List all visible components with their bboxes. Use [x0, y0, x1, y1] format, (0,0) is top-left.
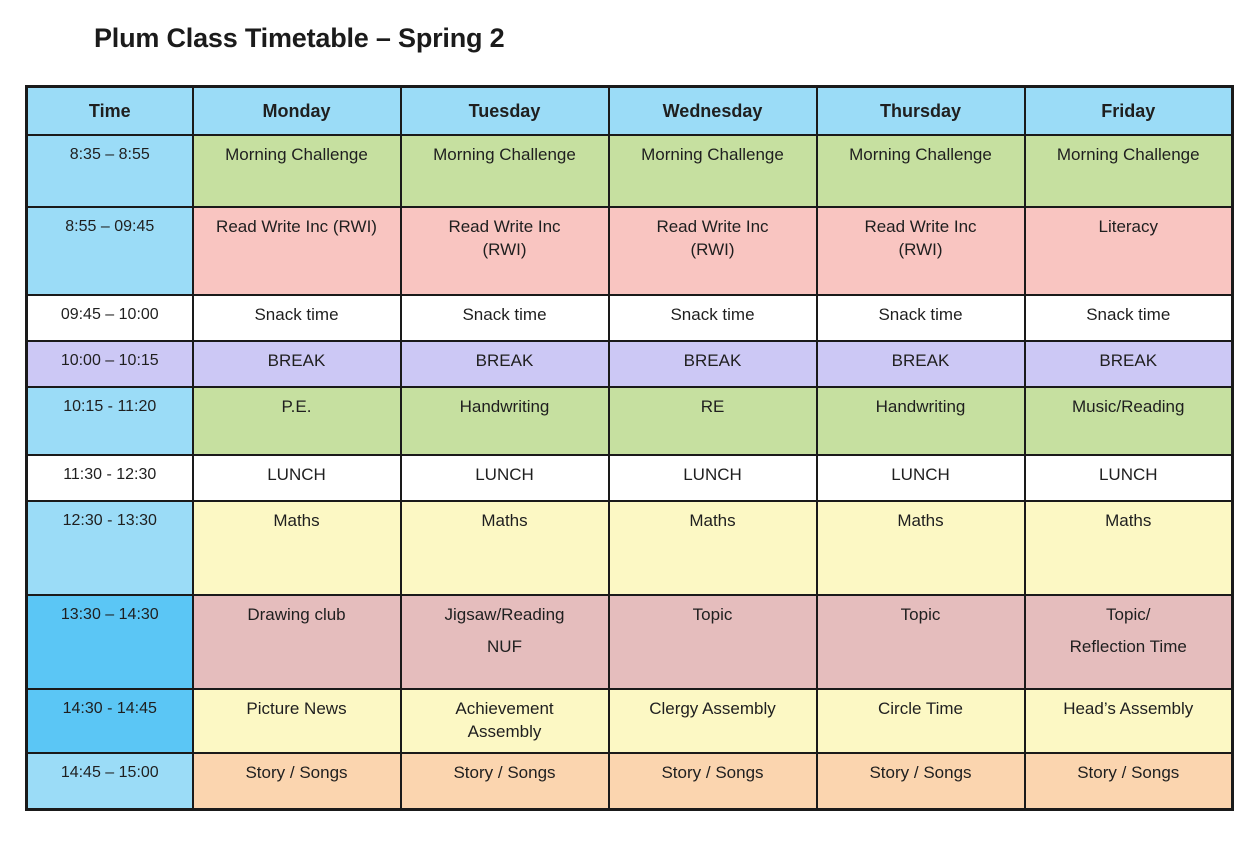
- lesson-cell: Clergy Assembly: [609, 689, 817, 753]
- lesson-line: Topic/: [1033, 605, 1225, 625]
- lesson-cell: Maths: [609, 501, 817, 595]
- lesson-cell: Head’s Assembly: [1025, 689, 1233, 753]
- time-label: 11:30 - 12:30: [28, 456, 192, 488]
- column-header-time: Time: [27, 87, 193, 136]
- lesson-cell: Morning Challenge: [1025, 135, 1233, 207]
- time-label: 14:45 – 15:00: [28, 754, 192, 786]
- time-cell: 10:00 – 10:15: [27, 341, 193, 387]
- column-header-friday: Friday: [1025, 87, 1233, 136]
- lesson-text: BREAK: [610, 342, 816, 375]
- lesson-cell: Maths: [817, 501, 1025, 595]
- lesson-cell: Maths: [1025, 501, 1233, 595]
- time-cell: 10:15 - 11:20: [27, 387, 193, 455]
- lesson-line: LUNCH: [825, 465, 1017, 485]
- lesson-line: Story / Songs: [1033, 763, 1225, 783]
- time-cell: 14:30 - 14:45: [27, 689, 193, 753]
- lesson-line: (RWI): [409, 240, 601, 260]
- lesson-line: Jigsaw/Reading: [409, 605, 601, 625]
- lesson-text: Read Write Inc(RWI): [610, 208, 816, 263]
- lesson-cell: Literacy: [1025, 207, 1233, 295]
- lesson-text: BREAK: [194, 342, 400, 375]
- lesson-line: Story / Songs: [201, 763, 393, 783]
- lesson-text: RE: [610, 388, 816, 421]
- lesson-line: Maths: [201, 511, 393, 531]
- lesson-text: Topic/Reflection Time: [1026, 596, 1232, 660]
- time-label: 8:55 – 09:45: [28, 208, 192, 240]
- lesson-text: Read Write Inc (RWI): [194, 208, 400, 241]
- lesson-cell: Maths: [193, 501, 401, 595]
- lesson-text: BREAK: [402, 342, 608, 375]
- lesson-text: LUNCH: [610, 456, 816, 489]
- lesson-text: Maths: [194, 502, 400, 535]
- lesson-cell: BREAK: [401, 341, 609, 387]
- lesson-text: LUNCH: [818, 456, 1024, 489]
- lesson-text: Circle Time: [818, 690, 1024, 723]
- lesson-line: BREAK: [409, 351, 601, 371]
- lesson-line: Read Write Inc: [825, 217, 1017, 237]
- lesson-text: Story / Songs: [818, 754, 1024, 787]
- time-label: 13:30 – 14:30: [28, 596, 192, 628]
- time-label: 12:30 - 13:30: [28, 502, 192, 534]
- lesson-cell: Story / Songs: [401, 753, 609, 810]
- time-label: 8:35 – 8:55: [28, 136, 192, 168]
- header-row: Time Monday Tuesday Wednesday Thursday F…: [27, 87, 1233, 136]
- lesson-line: LUNCH: [201, 465, 393, 485]
- lesson-line: BREAK: [201, 351, 393, 371]
- time-cell: 8:55 – 09:45: [27, 207, 193, 295]
- lesson-cell: Snack time: [193, 295, 401, 341]
- lesson-cell: Morning Challenge: [609, 135, 817, 207]
- lesson-line: Read Write Inc: [409, 217, 601, 237]
- lesson-line: Read Write Inc: [617, 217, 809, 237]
- lesson-cell: LUNCH: [193, 455, 401, 501]
- lesson-text: Head’s Assembly: [1026, 690, 1232, 723]
- lesson-line: Circle Time: [825, 699, 1017, 719]
- lesson-text: Snack time: [818, 296, 1024, 329]
- lesson-text: AchievementAssembly: [402, 690, 608, 745]
- lesson-cell: Handwriting: [817, 387, 1025, 455]
- lesson-line: LUNCH: [409, 465, 601, 485]
- lesson-cell: P.E.: [193, 387, 401, 455]
- lesson-cell: Read Write Inc(RWI): [401, 207, 609, 295]
- lesson-line: Morning Challenge: [201, 145, 393, 165]
- lesson-line: BREAK: [1033, 351, 1225, 371]
- lesson-line: BREAK: [617, 351, 809, 371]
- lesson-text: Story / Songs: [610, 754, 816, 787]
- lesson-text: Read Write Inc(RWI): [402, 208, 608, 263]
- time-cell: 14:45 – 15:00: [27, 753, 193, 810]
- lesson-line: Morning Challenge: [825, 145, 1017, 165]
- lesson-text: Maths: [1026, 502, 1232, 535]
- lesson-line: Snack time: [1033, 305, 1225, 325]
- lesson-cell: Snack time: [1025, 295, 1233, 341]
- time-label: 14:30 - 14:45: [28, 690, 192, 722]
- lesson-cell: Snack time: [609, 295, 817, 341]
- lesson-text: Jigsaw/ReadingNUF: [402, 596, 608, 660]
- lesson-line: (RWI): [825, 240, 1017, 260]
- lesson-text: Picture News: [194, 690, 400, 723]
- lesson-line: Assembly: [409, 722, 601, 742]
- lesson-line: LUNCH: [1033, 465, 1225, 485]
- lesson-cell: AchievementAssembly: [401, 689, 609, 753]
- timetable-row: 10:15 - 11:20P.E.HandwritingREHandwritin…: [27, 387, 1233, 455]
- lesson-line: Topic: [825, 605, 1017, 625]
- timetable-page: Plum Class Timetable – Spring 2 Time Mon…: [0, 0, 1256, 867]
- lesson-line: P.E.: [201, 397, 393, 417]
- lesson-line: RE: [617, 397, 809, 417]
- lesson-cell: Story / Songs: [609, 753, 817, 810]
- lesson-line: Story / Songs: [409, 763, 601, 783]
- lesson-text: Story / Songs: [1026, 754, 1232, 787]
- timetable-body: 8:35 – 8:55Morning ChallengeMorning Chal…: [27, 135, 1233, 810]
- column-header-monday: Monday: [193, 87, 401, 136]
- lesson-line: Reflection Time: [1033, 637, 1225, 657]
- lesson-cell: LUNCH: [609, 455, 817, 501]
- lesson-line: Maths: [409, 511, 601, 531]
- lesson-text: Music/Reading: [1026, 388, 1232, 421]
- lesson-text: Snack time: [402, 296, 608, 329]
- lesson-text: Morning Challenge: [610, 136, 816, 169]
- lesson-line: Story / Songs: [825, 763, 1017, 783]
- lesson-text: Read Write Inc(RWI): [818, 208, 1024, 263]
- timetable-row: 11:30 - 12:30LUNCHLUNCHLUNCHLUNCHLUNCH: [27, 455, 1233, 501]
- lesson-cell: LUNCH: [817, 455, 1025, 501]
- lesson-cell: BREAK: [817, 341, 1025, 387]
- timetable-row: 8:55 – 09:45Read Write Inc (RWI)Read Wri…: [27, 207, 1233, 295]
- lesson-text: Drawing club: [194, 596, 400, 629]
- lesson-cell: Handwriting: [401, 387, 609, 455]
- lesson-line: Clergy Assembly: [617, 699, 809, 719]
- lesson-cell: Picture News: [193, 689, 401, 753]
- lesson-line: Story / Songs: [617, 763, 809, 783]
- lesson-cell: Story / Songs: [193, 753, 401, 810]
- lesson-line: LUNCH: [617, 465, 809, 485]
- lesson-cell: Snack time: [817, 295, 1025, 341]
- lesson-line: Drawing club: [201, 605, 393, 625]
- lesson-text: Morning Challenge: [818, 136, 1024, 169]
- lesson-line: Head’s Assembly: [1033, 699, 1225, 719]
- lesson-text: Story / Songs: [402, 754, 608, 787]
- lesson-line: Achievement: [409, 699, 601, 719]
- lesson-cell: BREAK: [193, 341, 401, 387]
- lesson-text: Clergy Assembly: [610, 690, 816, 723]
- lesson-text: Snack time: [194, 296, 400, 329]
- timetable-head: Time Monday Tuesday Wednesday Thursday F…: [27, 87, 1233, 136]
- lesson-cell: Circle Time: [817, 689, 1025, 753]
- lesson-cell: Read Write Inc (RWI): [193, 207, 401, 295]
- lesson-cell: Morning Challenge: [401, 135, 609, 207]
- lesson-cell: Morning Challenge: [193, 135, 401, 207]
- lesson-cell: Read Write Inc(RWI): [609, 207, 817, 295]
- time-cell: 12:30 - 13:30: [27, 501, 193, 595]
- lesson-line: Handwriting: [825, 397, 1017, 417]
- lesson-cell: Topic: [609, 595, 817, 689]
- lesson-cell: Story / Songs: [1025, 753, 1233, 810]
- lesson-line: Morning Challenge: [1033, 145, 1225, 165]
- lesson-cell: BREAK: [1025, 341, 1233, 387]
- lesson-cell: Topic/Reflection Time: [1025, 595, 1233, 689]
- lesson-text: Maths: [818, 502, 1024, 535]
- time-cell: 09:45 – 10:00: [27, 295, 193, 341]
- lesson-text: BREAK: [1026, 342, 1232, 375]
- lesson-cell: Drawing club: [193, 595, 401, 689]
- lesson-text: Snack time: [1026, 296, 1232, 329]
- column-header-wednesday: Wednesday: [609, 87, 817, 136]
- lesson-text: Maths: [402, 502, 608, 535]
- lesson-line: Snack time: [617, 305, 809, 325]
- timetable-row: 10:00 – 10:15BREAKBREAKBREAKBREAKBREAK: [27, 341, 1233, 387]
- lesson-text: Snack time: [610, 296, 816, 329]
- lesson-text: Maths: [610, 502, 816, 535]
- lesson-line: Picture News: [201, 699, 393, 719]
- timetable-row: 12:30 - 13:30MathsMathsMathsMathsMaths: [27, 501, 1233, 595]
- lesson-text: Handwriting: [402, 388, 608, 421]
- lesson-cell: Jigsaw/ReadingNUF: [401, 595, 609, 689]
- time-label: 09:45 – 10:00: [28, 296, 192, 328]
- time-label: 10:15 - 11:20: [28, 388, 192, 420]
- lesson-cell: Topic: [817, 595, 1025, 689]
- lesson-cell: Snack time: [401, 295, 609, 341]
- lesson-text: Topic: [610, 596, 816, 629]
- timetable-row: 09:45 – 10:00Snack timeSnack timeSnack t…: [27, 295, 1233, 341]
- column-header-thursday: Thursday: [817, 87, 1025, 136]
- lesson-line: Snack time: [825, 305, 1017, 325]
- timetable: Time Monday Tuesday Wednesday Thursday F…: [25, 85, 1234, 811]
- lesson-text: LUNCH: [194, 456, 400, 489]
- lesson-line: Maths: [617, 511, 809, 531]
- lesson-text: Handwriting: [818, 388, 1024, 421]
- time-label: 10:00 – 10:15: [28, 342, 192, 374]
- lesson-cell: LUNCH: [401, 455, 609, 501]
- lesson-line: (RWI): [617, 240, 809, 260]
- lesson-line: Morning Challenge: [617, 145, 809, 165]
- lesson-line: Snack time: [201, 305, 393, 325]
- lesson-line: Read Write Inc (RWI): [201, 217, 393, 237]
- lesson-text: Story / Songs: [194, 754, 400, 787]
- lesson-line: NUF: [409, 637, 601, 657]
- timetable-row: 8:35 – 8:55Morning ChallengeMorning Chal…: [27, 135, 1233, 207]
- timetable-container: Time Monday Tuesday Wednesday Thursday F…: [25, 85, 1231, 811]
- lesson-text: Morning Challenge: [1026, 136, 1232, 169]
- lesson-cell: LUNCH: [1025, 455, 1233, 501]
- lesson-text: LUNCH: [1026, 456, 1232, 489]
- lesson-cell: RE: [609, 387, 817, 455]
- lesson-cell: BREAK: [609, 341, 817, 387]
- lesson-text: Topic: [818, 596, 1024, 629]
- timetable-row: 14:30 - 14:45Picture NewsAchievementAsse…: [27, 689, 1233, 753]
- lesson-line: BREAK: [825, 351, 1017, 371]
- lesson-cell: Maths: [401, 501, 609, 595]
- column-header-tuesday: Tuesday: [401, 87, 609, 136]
- lesson-cell: Morning Challenge: [817, 135, 1025, 207]
- lesson-line: Maths: [825, 511, 1017, 531]
- timetable-row: 14:45 – 15:00Story / SongsStory / SongsS…: [27, 753, 1233, 810]
- lesson-cell: Story / Songs: [817, 753, 1025, 810]
- lesson-line: Literacy: [1033, 217, 1225, 237]
- lesson-line: Topic: [617, 605, 809, 625]
- time-cell: 13:30 – 14:30: [27, 595, 193, 689]
- lesson-text: Morning Challenge: [194, 136, 400, 169]
- page-title: Plum Class Timetable – Spring 2: [94, 23, 504, 54]
- lesson-cell: Music/Reading: [1025, 387, 1233, 455]
- lesson-line: Snack time: [409, 305, 601, 325]
- lesson-text: LUNCH: [402, 456, 608, 489]
- lesson-line: Music/Reading: [1033, 397, 1225, 417]
- timetable-row: 13:30 – 14:30Drawing clubJigsaw/ReadingN…: [27, 595, 1233, 689]
- lesson-text: P.E.: [194, 388, 400, 421]
- lesson-text: Literacy: [1026, 208, 1232, 241]
- lesson-line: Handwriting: [409, 397, 601, 417]
- time-cell: 8:35 – 8:55: [27, 135, 193, 207]
- time-cell: 11:30 - 12:30: [27, 455, 193, 501]
- lesson-text: Morning Challenge: [402, 136, 608, 169]
- lesson-line: Morning Challenge: [409, 145, 601, 165]
- lesson-text: BREAK: [818, 342, 1024, 375]
- lesson-cell: Read Write Inc(RWI): [817, 207, 1025, 295]
- lesson-line: Maths: [1033, 511, 1225, 531]
